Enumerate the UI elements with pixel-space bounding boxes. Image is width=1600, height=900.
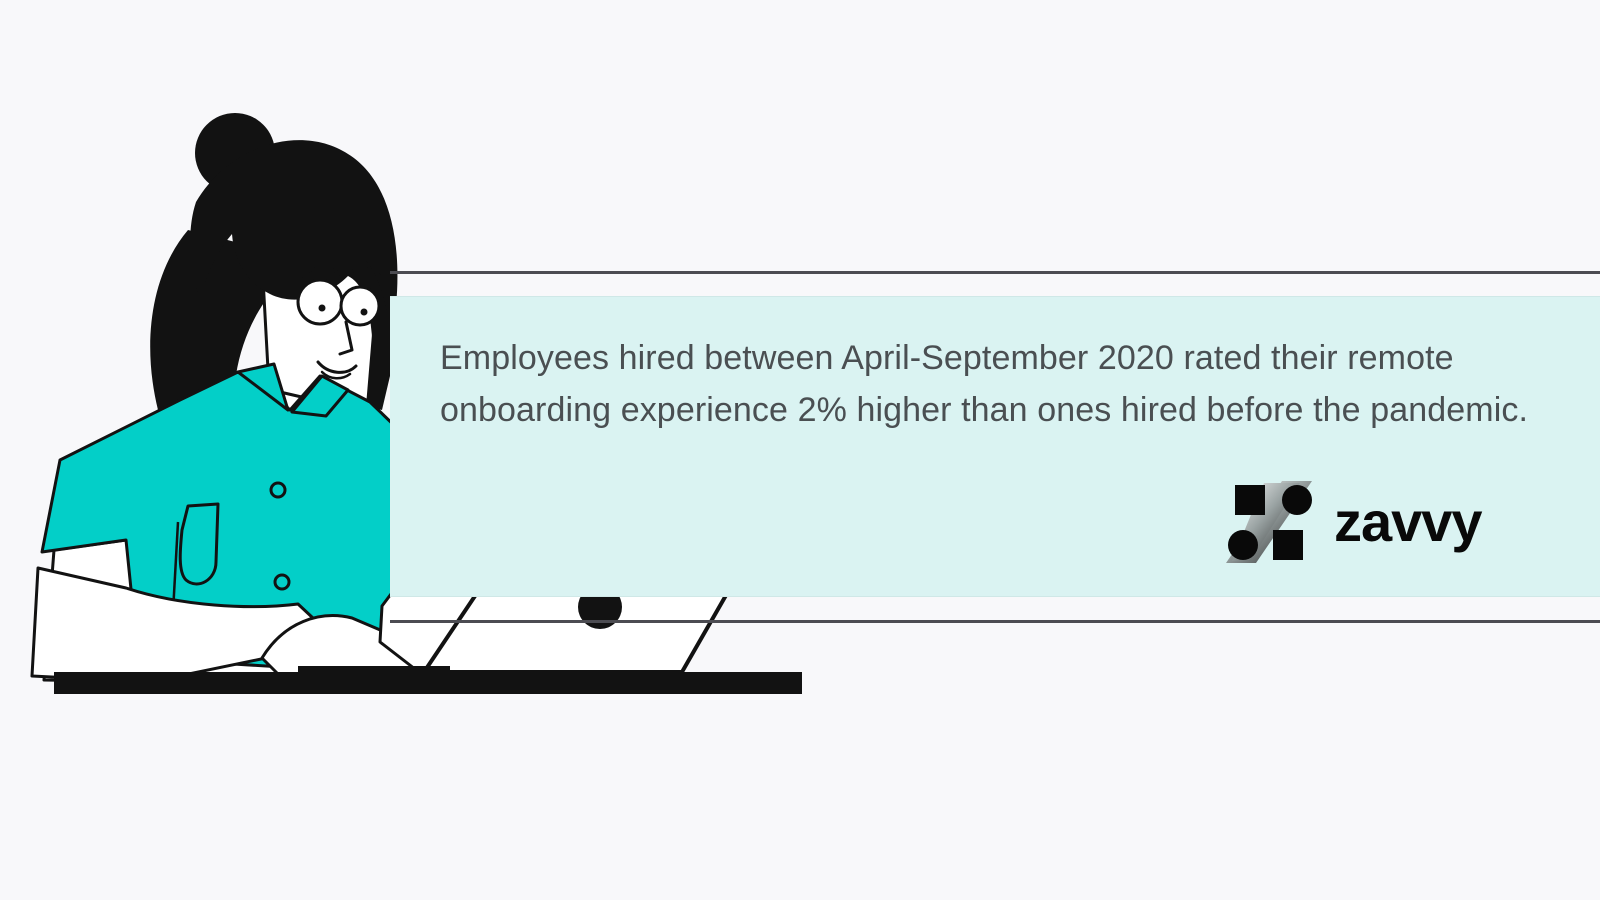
zavvy-logo-mark-icon xyxy=(1226,481,1312,563)
zavvy-mark-circle-top-right xyxy=(1282,485,1312,515)
quote-text: Employees hired between April-September … xyxy=(440,332,1530,436)
laptop-keyboard-edge xyxy=(298,666,450,678)
zavvy-mark-square-top-left xyxy=(1235,485,1265,515)
eye-left-pupil xyxy=(319,305,326,312)
eye-left xyxy=(298,280,342,324)
zavvy-mark-circle-bottom-left xyxy=(1228,530,1258,560)
zavvy-mark-square-bottom-right xyxy=(1273,530,1303,560)
divider-line-top xyxy=(390,271,1600,274)
eye-right xyxy=(341,287,379,325)
banner-canvas: Employees hired between April-September … xyxy=(0,0,1600,900)
divider-line-bottom xyxy=(390,620,1600,623)
zavvy-logo[interactable]: zavvy xyxy=(1226,481,1482,563)
eye-right-pupil xyxy=(361,309,368,316)
zavvy-wordmark: zavvy xyxy=(1334,494,1482,550)
